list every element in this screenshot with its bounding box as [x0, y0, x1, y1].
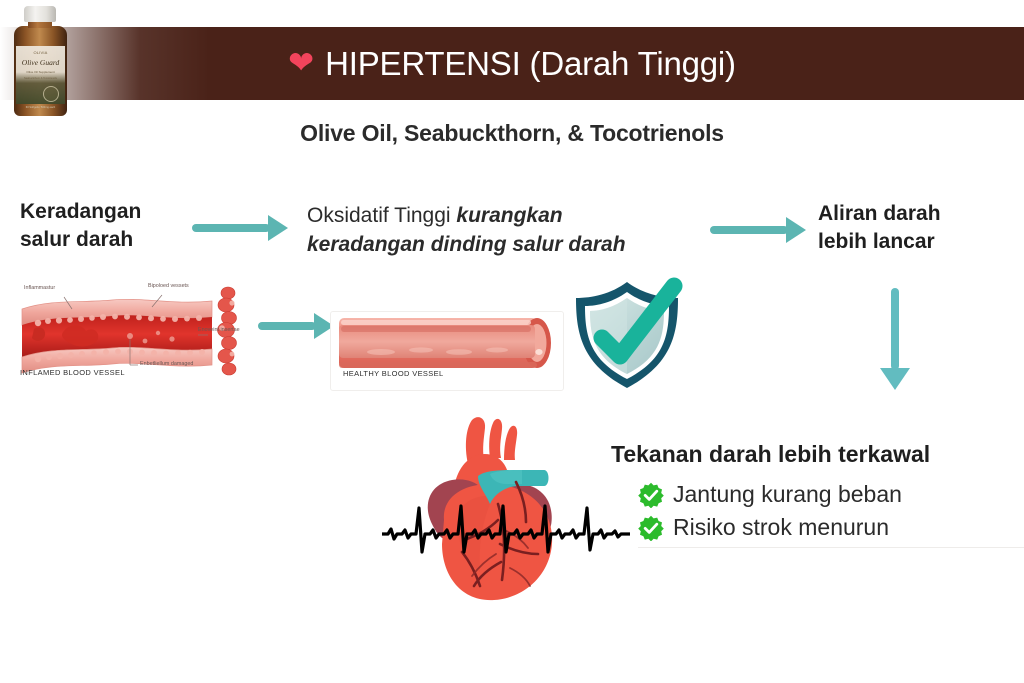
header-banner: ❤ HIPERTENSI (Darah Tinggi): [0, 27, 1024, 100]
green-check-badge-icon: [638, 515, 664, 541]
inflamed-annotation-2: Bipoloed vessets: [148, 283, 189, 289]
ecg-waveform-svg: [382, 500, 630, 564]
subtitle: Olive Oil, Seabuckthorn, & Tocotrienols: [0, 120, 1024, 147]
header-banner-content: ❤ HIPERTENSI (Darah Tinggi): [0, 27, 1024, 100]
heart-emoji-icon: ❤: [288, 47, 314, 78]
infographic-canvas: ❤ HIPERTENSI (Darah Tinggi) OLIVIA Olive…: [0, 0, 1024, 683]
outcome-divider: [638, 547, 1024, 548]
bottle-brand-text: OLIVIA: [16, 50, 65, 55]
page-title: HIPERTENSI (Darah Tinggi): [325, 45, 736, 83]
arrow-mid-to-right: [710, 217, 806, 243]
bottle-cap: [24, 6, 56, 22]
outcome-bullet-1-label: Jantung kurang beban: [673, 481, 902, 508]
inflamed-annotation-1: Inflammastur: [24, 285, 55, 291]
step-left-line1: Keradangan: [20, 198, 220, 226]
outcome-bullet-2-label: Risiko strok menurun: [673, 514, 889, 541]
bottle-detail: Seabuckthorn & Tocotrienols: [16, 77, 65, 80]
arrow-inflamed-to-healthy: [258, 313, 334, 339]
inflamed-vessel-caption: INFLAMED BLOOD VESSEL: [20, 368, 125, 377]
shield-check-icon: [566, 276, 688, 394]
bottle-neck: [28, 21, 52, 28]
step-right-text: Aliran darah lebih lancar: [818, 200, 1018, 256]
inflamed-annotation-4: Enoveint insertae: [198, 327, 242, 333]
ecg-waveform: [382, 500, 630, 564]
step-left-text: Keradangan salur darah: [20, 198, 220, 253]
inflamed-vessel-illustration: Inflammastur Bipoloed vessets Enbetliell…: [12, 279, 255, 387]
healthy-vessel-illustration: HEALTHY BLOOD VESSEL: [330, 311, 564, 391]
arrow-down-to-outcome: [880, 288, 910, 390]
outcome-bullet-1: Jantung kurang beban: [638, 481, 902, 508]
step-left-line2: salur darah: [20, 226, 220, 254]
healthy-vessel-caption: HEALTHY BLOOD VESSEL: [343, 369, 444, 378]
step-right-line2: lebih lancar: [818, 228, 1018, 256]
step-mid-plain: Oksidatif Tinggi: [307, 204, 451, 227]
healthy-vessel-svg: [331, 312, 563, 390]
arrow-left-to-mid: [192, 215, 288, 241]
bottle-tagline: Olive Oil Supplement: [16, 70, 65, 74]
step-mid-text: Oksidatif Tinggi kurangkan keradangan di…: [307, 202, 657, 260]
shield-check-svg: [566, 276, 688, 394]
product-bottle-image: OLIVIA Olive Guard Olive Oil Supplement …: [10, 6, 72, 118]
outcome-title: Tekanan darah lebih terkawal: [611, 441, 930, 468]
bottle-product-name: Olive Guard: [16, 58, 65, 67]
outcome-bullet-2: Risiko strok menurun: [638, 514, 889, 541]
bottle-body: OLIVIA Olive Guard Olive Oil Supplement …: [14, 26, 67, 116]
bottle-seal-icon: [43, 86, 59, 102]
bottle-footnote: 60 Softgels / 500mg each: [14, 106, 67, 109]
inflamed-annotation-3: Enbetliellum damaged: [140, 361, 193, 367]
step-right-line1: Aliran darah: [818, 200, 1018, 228]
green-check-badge-icon: [638, 482, 664, 508]
